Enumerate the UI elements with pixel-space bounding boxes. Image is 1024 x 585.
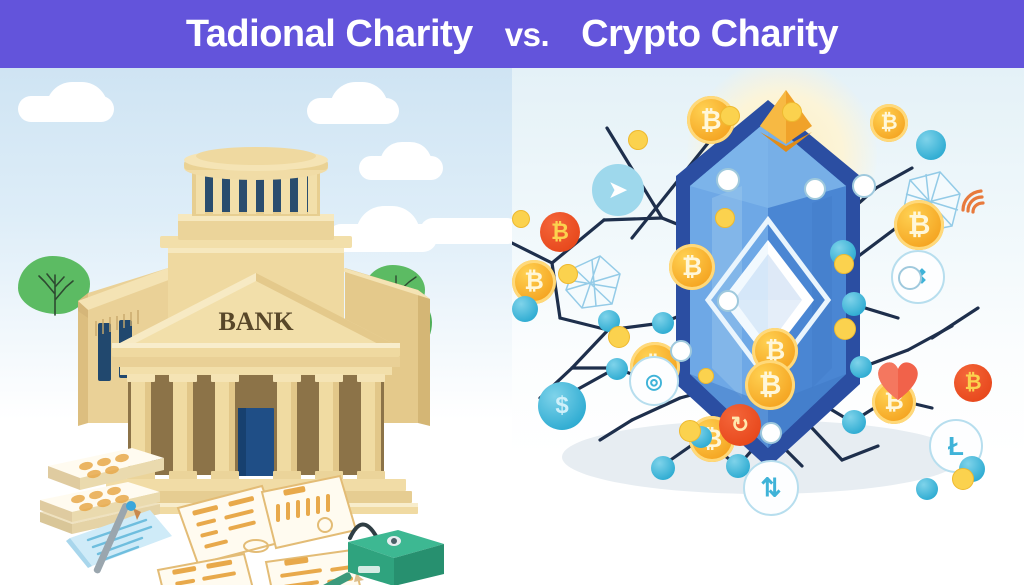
heart-icon (872, 354, 924, 402)
send-icon: ➤ (592, 164, 644, 216)
network-node (916, 478, 938, 500)
network-node-yellow (782, 102, 802, 122)
network-node-yellow (720, 106, 740, 126)
dollar-node-icon: $ (538, 382, 586, 430)
network-node-pale (716, 168, 740, 192)
network-node-yellow (834, 318, 856, 340)
anchor-icon: ⇅ (743, 460, 799, 516)
network-node (842, 292, 866, 316)
right-title: Crypto Charity (581, 15, 838, 53)
network-node-pale (898, 266, 922, 290)
network-node-yellow (628, 130, 648, 150)
network-node-yellow (608, 326, 630, 348)
traditional-charity-panel: BANK (0, 68, 512, 585)
bitcoin-coin-red: ₿ (954, 364, 992, 402)
briefcase-icon (348, 524, 444, 585)
target-icon: ◎ (629, 356, 679, 406)
network-node (842, 410, 866, 434)
crypto-charity-panel: ₿ ₿ ₿ ₿ ₿ ₿ ₿ ₿ ₿ ₿ ₿ ↻ (512, 68, 1024, 585)
infographic-root: Tadional Charity vs. Crypto Charity (0, 0, 1024, 585)
network-node-yellow (558, 264, 578, 284)
wireframe-gem-icon (566, 256, 620, 308)
network-node-yellow (834, 254, 854, 274)
network-node (652, 312, 674, 334)
header-title-group: Tadional Charity vs. Crypto Charity (186, 15, 838, 53)
network-node-yellow (698, 368, 714, 384)
left-scene-vector: BANK (0, 68, 512, 585)
network-node-pale (717, 290, 739, 312)
network-node (512, 296, 538, 322)
network-node-pale (760, 422, 782, 444)
bitcoin-coin: ₿ (870, 104, 908, 142)
bitcoin-coin: ₿ (669, 244, 715, 290)
bank-sign-text: BANK (218, 307, 294, 336)
network-node (726, 454, 750, 478)
network-node-pale (670, 340, 692, 362)
left-title: Tadional Charity (186, 15, 473, 53)
versus-label: vs. (505, 18, 549, 51)
refresh-icon: ↻ (719, 404, 761, 446)
tree-branch-icon (39, 274, 73, 315)
bitcoin-coin-on-crystal: ₿ (745, 360, 795, 410)
network-node (651, 456, 675, 480)
network-node (606, 358, 628, 380)
network-node-pale (852, 174, 876, 198)
network-node (916, 130, 946, 160)
network-node-yellow (512, 210, 530, 228)
header-banner: Tadional Charity vs. Crypto Charity (0, 0, 1024, 68)
bitcoin-coin-red: ₿ (540, 212, 580, 252)
network-node-yellow (715, 208, 735, 228)
wifi-signal-icon (959, 184, 993, 214)
bitcoin-coin: ₿ (894, 200, 944, 250)
network-node (850, 356, 872, 378)
network-node-yellow (952, 468, 974, 490)
network-node-yellow (679, 420, 701, 442)
network-node-pale (804, 178, 826, 200)
